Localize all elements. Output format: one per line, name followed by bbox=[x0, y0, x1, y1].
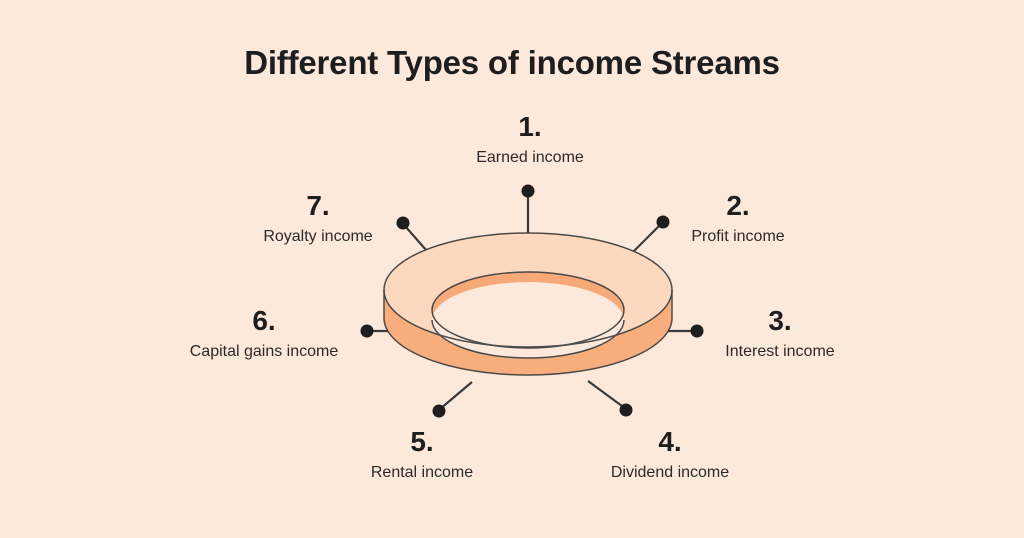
item-label-4: 4. Dividend income bbox=[572, 428, 768, 481]
item-label-7: 7. Royalty income bbox=[220, 192, 416, 245]
item-label-1: 1. Earned income bbox=[430, 113, 630, 166]
item-text-4: Dividend income bbox=[572, 465, 768, 481]
item-text-7: Royalty income bbox=[220, 229, 416, 245]
item-number-1: 1. bbox=[430, 113, 630, 141]
item-number-6: 6. bbox=[166, 307, 362, 335]
item-label-3: 3. Interest income bbox=[682, 307, 878, 360]
infographic-canvas: Different Types of income Streams bbox=[0, 0, 1024, 538]
spoke-dot-6 bbox=[361, 325, 374, 338]
item-number-2: 2. bbox=[640, 192, 836, 220]
item-number-3: 3. bbox=[682, 307, 878, 335]
item-text-2: Profit income bbox=[640, 229, 836, 245]
item-text-6: Capital gains income bbox=[166, 344, 362, 360]
item-label-2: 2. Profit income bbox=[640, 192, 836, 245]
page-title: Different Types of income Streams bbox=[0, 44, 1024, 82]
item-number-5: 5. bbox=[324, 428, 520, 456]
item-text-3: Interest income bbox=[682, 344, 878, 360]
ring-hole bbox=[432, 272, 624, 358]
item-label-6: 6. Capital gains income bbox=[166, 307, 362, 360]
item-label-5: 5. Rental income bbox=[324, 428, 520, 481]
item-number-7: 7. bbox=[220, 192, 416, 220]
item-text-5: Rental income bbox=[324, 465, 520, 481]
item-number-4: 4. bbox=[572, 428, 768, 456]
spoke-dot-1 bbox=[522, 185, 535, 198]
torus-ring-graphic bbox=[380, 228, 676, 408]
item-text-1: Earned income bbox=[430, 150, 630, 166]
